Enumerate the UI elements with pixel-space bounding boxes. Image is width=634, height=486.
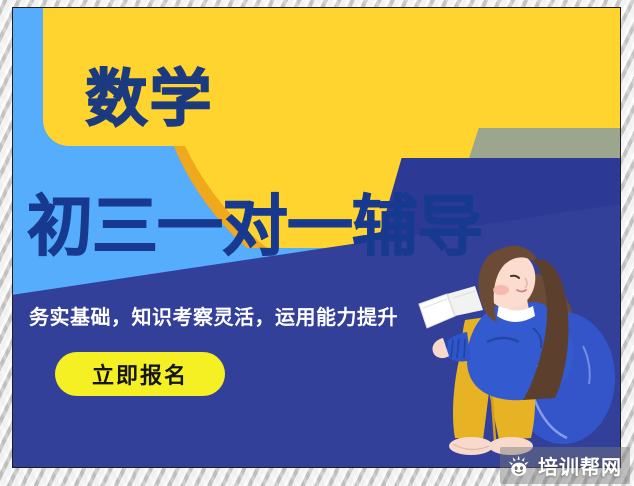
girl-reading-book-illustration xyxy=(413,242,621,468)
signup-button-label: 立即报名 xyxy=(92,358,188,390)
sun-face-icon xyxy=(507,455,531,477)
subject-badge-label: 数学 xyxy=(85,68,213,130)
promo-banner: 数学 xyxy=(12,7,621,468)
headline: 初三一对一辅导 xyxy=(27,194,482,260)
watermark: 培训帮网 xyxy=(500,447,630,484)
watermark-label: 培训帮网 xyxy=(538,451,622,480)
page-backdrop: 数学 xyxy=(0,0,634,486)
signup-button[interactable]: 立即报名 xyxy=(55,352,225,396)
subject-badge: 数学 xyxy=(43,7,256,146)
subtitle: 务实基础，知识考察灵活，运用能力提升 xyxy=(29,301,398,330)
